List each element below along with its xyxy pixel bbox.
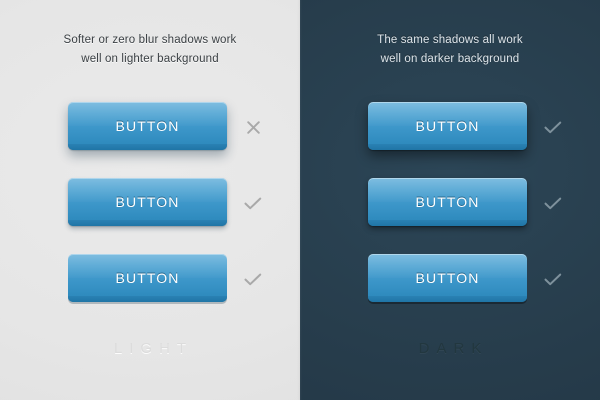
button-row: BUTTON: [0, 102, 300, 178]
dark-panel-caption: The same shadows all work well on darker…: [300, 31, 600, 69]
light-panel-caption: Softer or zero blur shadows work well on…: [0, 31, 300, 69]
button-light-medium-shadow[interactable]: BUTTON: [68, 178, 227, 226]
button-dark-zero-shadow[interactable]: BUTTON: [368, 254, 527, 302]
check-icon: [541, 267, 565, 291]
caption-line-2: well on darker background: [300, 50, 600, 69]
button-label: BUTTON: [116, 194, 180, 210]
button-label: BUTTON: [416, 194, 480, 210]
dark-panel: The same shadows all work well on darker…: [300, 0, 600, 400]
button-row: BUTTON: [300, 178, 600, 254]
caption-line-1: Softer or zero blur shadows work: [0, 31, 300, 50]
button-dark-soft-shadow[interactable]: BUTTON: [368, 102, 527, 150]
button-light-soft-shadow[interactable]: BUTTON: [68, 102, 227, 150]
button-label: BUTTON: [116, 118, 180, 134]
check-icon: [241, 191, 265, 215]
button-label: BUTTON: [116, 270, 180, 286]
button-row: BUTTON: [0, 178, 300, 254]
button-row: BUTTON: [300, 102, 600, 178]
caption-line-2: well on lighter background: [0, 50, 300, 69]
check-icon: [241, 267, 265, 291]
button-dark-medium-shadow[interactable]: BUTTON: [368, 178, 527, 226]
button-label: BUTTON: [416, 118, 480, 134]
button-row: BUTTON: [0, 254, 300, 330]
caption-line-1: The same shadows all work: [300, 31, 600, 50]
light-panel: Softer or zero blur shadows work well on…: [0, 0, 300, 400]
dark-panel-rows: BUTTON BUTTON: [300, 102, 600, 330]
button-label: BUTTON: [416, 270, 480, 286]
button-row: BUTTON: [300, 254, 600, 330]
light-panel-watermark: LIGHT: [0, 340, 300, 357]
check-icon: [541, 115, 565, 139]
check-icon: [541, 191, 565, 215]
dark-panel-watermark: DARK: [300, 340, 600, 357]
cross-icon: [241, 115, 265, 139]
shadow-comparison-stage: Softer or zero blur shadows work well on…: [0, 0, 600, 400]
light-panel-rows: BUTTON BUTTON: [0, 102, 300, 330]
button-light-zero-shadow[interactable]: BUTTON: [68, 254, 227, 302]
